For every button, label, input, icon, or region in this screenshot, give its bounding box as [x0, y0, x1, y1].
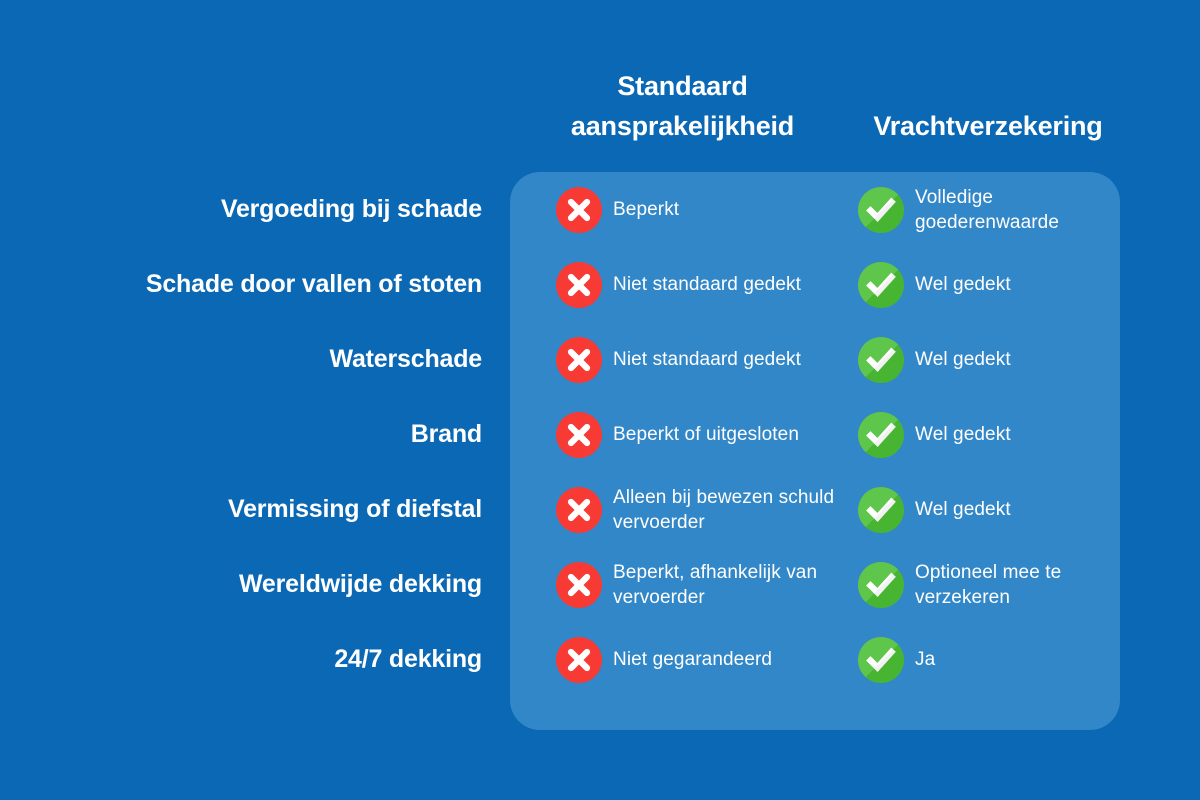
cell-standard: Alleen bij bewezen schuld vervoerder: [556, 472, 856, 547]
cross-circle-icon: [556, 637, 602, 683]
cell-text: Alleen bij bewezen schuld vervoerder: [613, 485, 856, 535]
cell-text: Niet standaard gedekt: [613, 272, 801, 297]
cross-circle-icon: [556, 487, 602, 533]
cell-text: Optioneel mee te verzekeren: [915, 560, 1120, 610]
cell-text: Wel gedekt: [915, 347, 1011, 372]
check-circle-icon: [858, 262, 904, 308]
row-label: Brand: [0, 397, 482, 472]
cell-cargo: Wel gedekt: [858, 322, 1120, 397]
cell-standard: Beperkt of uitgesloten: [556, 397, 856, 472]
table-row: Schade door vallen of stoten Niet standa…: [0, 247, 1200, 322]
cell-cargo: Optioneel mee te verzekeren: [858, 547, 1120, 622]
cell-text: Beperkt: [613, 197, 679, 222]
row-label: Wereldwijde dekking: [0, 547, 482, 622]
cell-standard: Beperkt: [556, 172, 856, 247]
row-label: Vermissing of diefstal: [0, 472, 482, 547]
cell-standard: Beperkt, afhankelijk van vervoerder: [556, 547, 856, 622]
cell-standard: Niet gegarandeerd: [556, 622, 856, 697]
cell-text: Volledige goederenwaarde: [915, 185, 1120, 235]
table-row: Waterschade Niet standaard gedekt Wel ge…: [0, 322, 1200, 397]
cell-text: Wel gedekt: [915, 272, 1011, 297]
cell-standard: Niet standaard gedekt: [556, 247, 856, 322]
column-header-standard-line2: aansprakelijkheid: [510, 106, 855, 146]
table-row: Vermissing of diefstal Alleen bij beweze…: [0, 472, 1200, 547]
row-label: Vergoeding bij schade: [0, 172, 482, 247]
cell-cargo: Wel gedekt: [858, 472, 1120, 547]
cell-text: Beperkt of uitgesloten: [613, 422, 799, 447]
cell-text: Niet gegarandeerd: [613, 647, 772, 672]
row-label: Schade door vallen of stoten: [0, 247, 482, 322]
table-row: Wereldwijde dekking Beperkt, afhankelijk…: [0, 547, 1200, 622]
cross-circle-icon: [556, 337, 602, 383]
cell-text: Beperkt, afhankelijk van vervoerder: [613, 560, 856, 610]
cross-circle-icon: [556, 562, 602, 608]
comparison-infographic: Standaard aansprakelijkheid Vrachtverzek…: [0, 0, 1200, 800]
cell-text: Ja: [915, 647, 935, 672]
check-circle-icon: [858, 187, 904, 233]
cell-text: Niet standaard gedekt: [613, 347, 801, 372]
check-circle-icon: [858, 337, 904, 383]
row-label: 24/7 dekking: [0, 622, 482, 697]
cell-text: Wel gedekt: [915, 497, 1011, 522]
check-circle-icon: [858, 562, 904, 608]
cross-circle-icon: [556, 187, 602, 233]
column-header-cargo: Vrachtverzekering: [852, 106, 1124, 146]
row-label: Waterschade: [0, 322, 482, 397]
cell-cargo: Wel gedekt: [858, 397, 1120, 472]
cell-standard: Niet standaard gedekt: [556, 322, 856, 397]
check-circle-icon: [858, 487, 904, 533]
cross-circle-icon: [556, 262, 602, 308]
column-header-standard-line1: Standaard: [510, 66, 855, 106]
cell-text: Wel gedekt: [915, 422, 1011, 447]
comparison-rows: Vergoeding bij schade Beperkt Volledige …: [0, 172, 1200, 697]
cross-circle-icon: [556, 412, 602, 458]
cell-cargo: Wel gedekt: [858, 247, 1120, 322]
check-circle-icon: [858, 412, 904, 458]
table-row: Vergoeding bij schade Beperkt Volledige …: [0, 172, 1200, 247]
table-row: 24/7 dekking Niet gegarandeerd Ja: [0, 622, 1200, 697]
cell-cargo: Volledige goederenwaarde: [858, 172, 1120, 247]
table-row: Brand Beperkt of uitgesloten Wel gedekt: [0, 397, 1200, 472]
check-circle-icon: [858, 637, 904, 683]
column-header-standard: Standaard aansprakelijkheid: [510, 66, 855, 146]
cell-cargo: Ja: [858, 622, 1120, 697]
